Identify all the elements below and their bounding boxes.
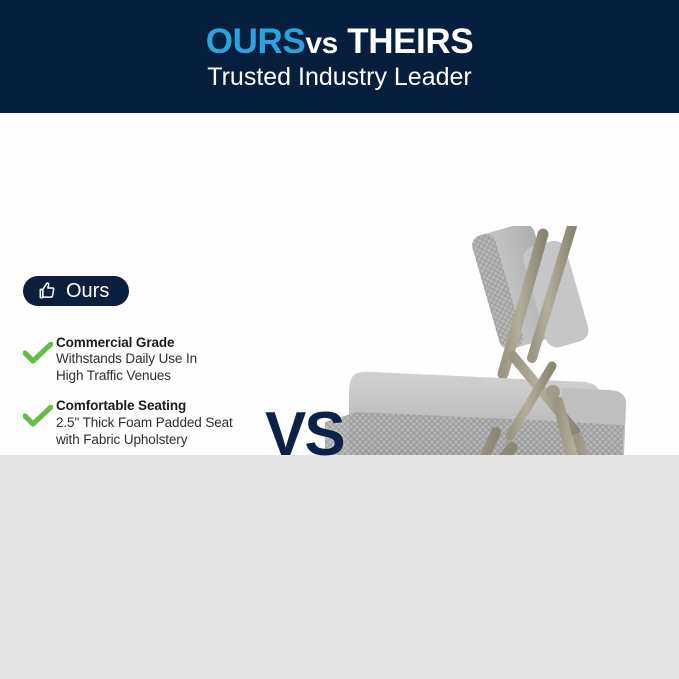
ours-feature-list: Commercial Grade Withstands Daily Use In… bbox=[20, 335, 290, 455]
list-item: Commercial Grade Withstands Daily Use In… bbox=[20, 335, 290, 385]
feature-title: Comfortable Seating bbox=[56, 398, 290, 414]
check-icon bbox=[20, 335, 56, 366]
feature-desc-line2: High Traffic Venues bbox=[56, 368, 290, 385]
list-item: Comfortable Seating 2.5" Thick Foam Padd… bbox=[20, 398, 290, 448]
feature-title: Commercial Grade bbox=[56, 335, 290, 351]
page-subtitle: Trusted Industry Leader bbox=[207, 65, 472, 90]
header-banner: OURSvs THEIRS Trusted Industry Leader bbox=[0, 0, 679, 113]
title-ours: OURS bbox=[206, 22, 306, 61]
page-title: OURSvs THEIRS bbox=[206, 24, 473, 59]
theirs-panel: Theirs Residential Only For Occasional U… bbox=[0, 455, 679, 679]
thumbs-up-icon bbox=[37, 281, 57, 301]
ours-product-image bbox=[300, 226, 679, 455]
check-icon bbox=[20, 398, 56, 429]
comparison-infographic: OURSvs THEIRS Trusted Industry Leader bbox=[0, 0, 679, 679]
feature-desc-line1: 2.5" Thick Foam Padded Seat bbox=[56, 415, 290, 432]
feature-desc-line2: with Fabric Upholstery bbox=[56, 432, 290, 449]
feature-desc-line1: Withstands Daily Use In bbox=[56, 351, 290, 368]
ours-badge-label: Ours bbox=[66, 281, 109, 301]
vs-divider-label: VS bbox=[265, 404, 344, 466]
title-theirs: THEIRS bbox=[347, 22, 473, 61]
title-vs: vs bbox=[305, 27, 338, 60]
ours-badge: Ours bbox=[23, 276, 129, 306]
